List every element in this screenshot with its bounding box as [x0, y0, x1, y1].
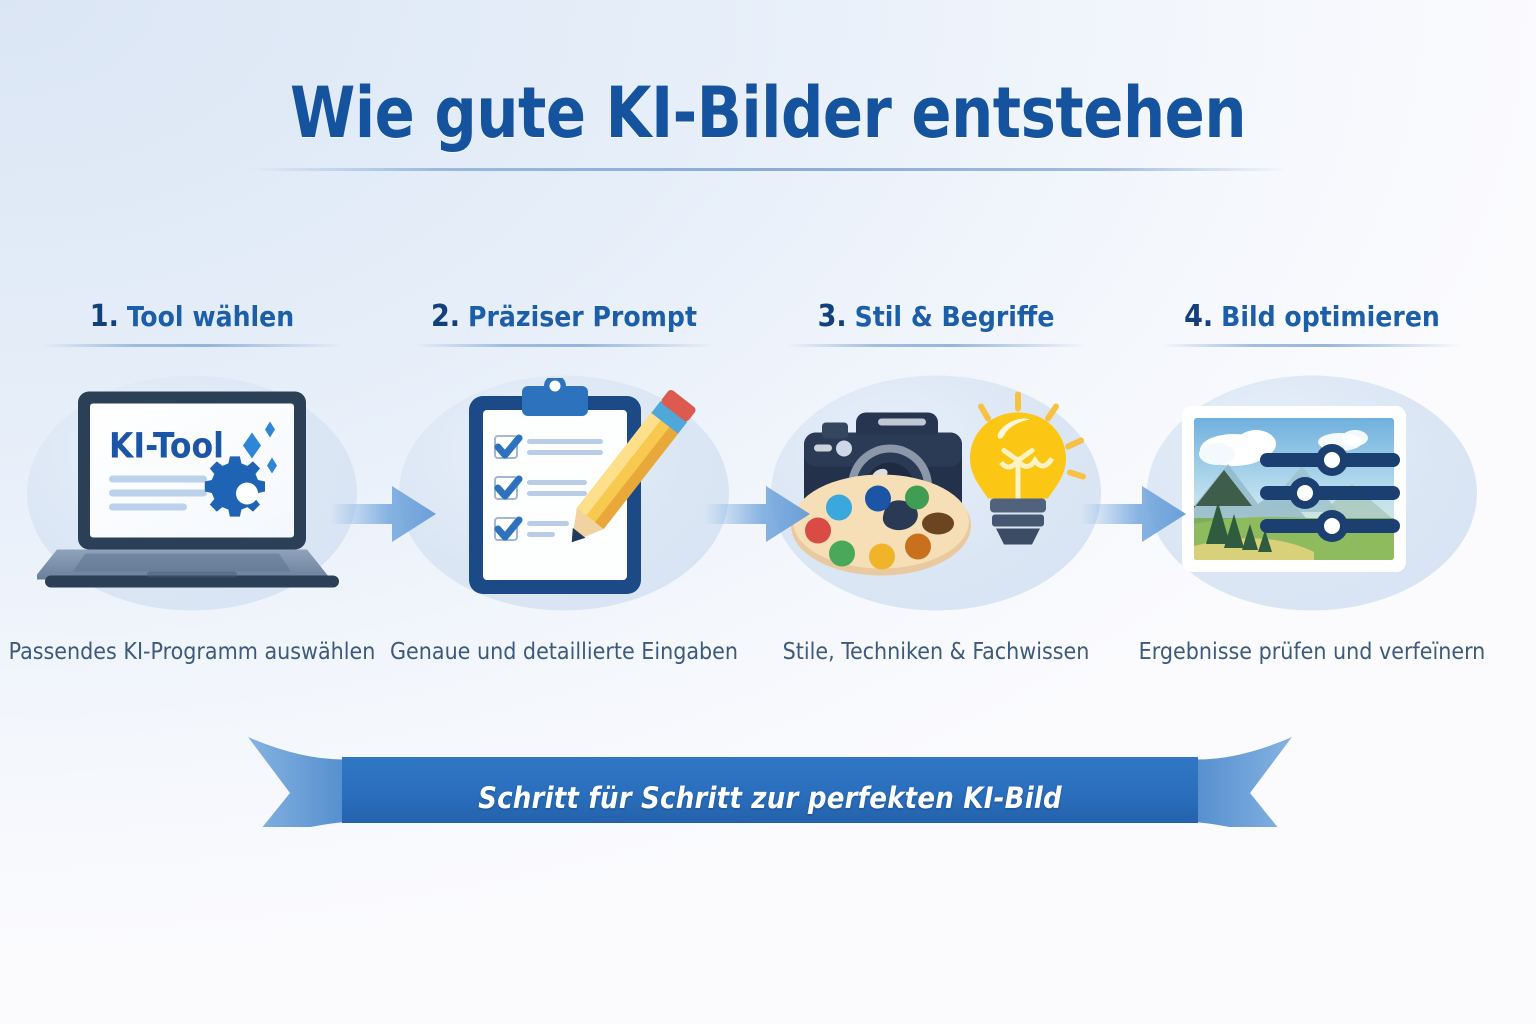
- step-caption-2: Genaue und detaillierte Eingaben: [372, 637, 756, 668]
- step-label-2: Präziser Prompt: [468, 300, 697, 333]
- gear-icon: [205, 456, 265, 516]
- step-heading-4: 4. Bild optimieren: [1120, 300, 1504, 334]
- step-divider-4: [1162, 344, 1462, 347]
- step-number-4: 4.: [1184, 299, 1213, 334]
- step-label-3: Stil & Begriffe: [855, 300, 1055, 333]
- step-column-1: 1. Tool wählen: [0, 300, 384, 668]
- step-icon-area-1: KI-Tool: [0, 363, 384, 623]
- step-number-1: 1.: [90, 299, 119, 334]
- infographic-canvas: Wie gute KI-Bilder entstehen 1. Tool wäh…: [0, 0, 1536, 1024]
- laptop-screen-text: KI-Tool: [109, 427, 224, 467]
- step-divider-1: [42, 344, 342, 347]
- step-heading-3: 3. Stil & Begriffe: [744, 300, 1128, 334]
- step-label-4: Bild optimieren: [1221, 300, 1440, 333]
- title-divider: [248, 168, 1288, 171]
- arrow-step1-to-step2: [330, 478, 450, 550]
- arrow-step2-to-step3: [704, 478, 824, 550]
- step-caption-1: Passendes KI-Programm auswählen: [0, 637, 384, 668]
- step-heading-1: 1. Tool wählen: [0, 300, 384, 334]
- image-sliders-icon: [1172, 398, 1452, 588]
- step-divider-3: [786, 344, 1086, 347]
- clipboard-checklist-icon: [429, 378, 699, 608]
- step-divider-2: [414, 344, 714, 347]
- step-caption-4: Ergebnisse prüfen und verfeïnern: [1120, 637, 1504, 668]
- lightbulb-icon: [970, 395, 1083, 545]
- arrow-step3-to-step4: [1080, 478, 1200, 550]
- step-label-1: Tool wählen: [127, 300, 294, 333]
- slider-controls: [1260, 444, 1400, 542]
- page-title: Wie gute KI-Bilder entstehen: [46, 74, 1490, 152]
- step-heading-2: 2. Präziser Prompt: [372, 300, 756, 334]
- step-caption-3: Stile, Techniken & Fachwissen: [744, 637, 1128, 668]
- ribbon-banner: Schritt für Schritt zur perfekten KI-Bil…: [248, 735, 1292, 827]
- step-number-2: 2.: [431, 299, 460, 334]
- style-tools-icon-group: [786, 391, 1086, 596]
- step-number-3: 3.: [818, 299, 847, 334]
- laptop-icon: KI-Tool: [37, 386, 347, 601]
- ribbon-label: Schritt für Schritt zur perfekten KI-Bil…: [248, 781, 1292, 815]
